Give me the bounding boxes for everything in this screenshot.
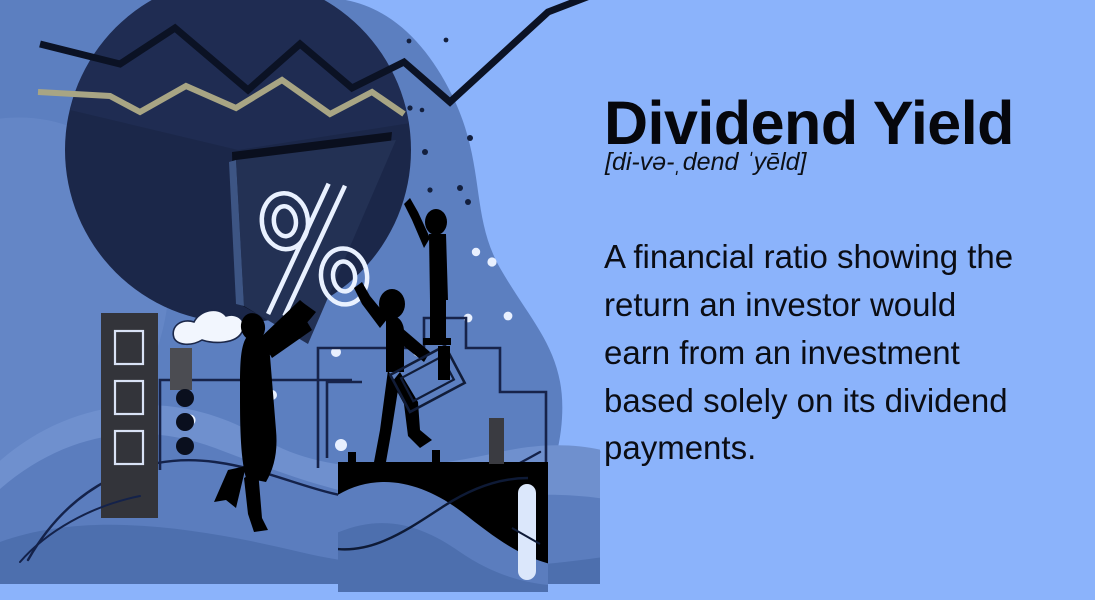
platform-block: [330, 462, 560, 600]
illustration-svg: [0, 0, 600, 600]
factory-smokestack: [170, 348, 192, 390]
illustration-panel: [0, 0, 600, 600]
page-title: Dividend Yield: [604, 93, 1014, 154]
pronunciation: [di-və-ˌdend ˈyēld]: [605, 148, 806, 177]
infographic-page: Dividend Yield [di-və-ˌdend ˈyēld] A fin…: [0, 0, 1095, 600]
ledge-pole: [438, 346, 450, 380]
platform-leg-right: [432, 450, 440, 466]
office-tower: [101, 313, 158, 518]
coin-stack: [176, 389, 194, 455]
platform-leg-left: [348, 452, 356, 466]
text-panel: Dividend Yield [di-və-ˌdend ˈyēld] A fin…: [600, 0, 1095, 600]
definition-text: A financial ratio showing the return an …: [604, 233, 1024, 472]
ledge-post-small: [489, 418, 504, 464]
